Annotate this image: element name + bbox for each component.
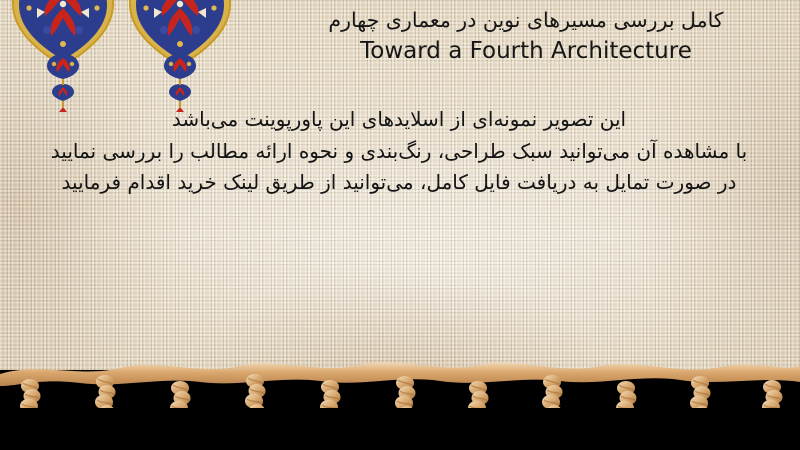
slide-title-english: Toward a Fourth Architecture	[266, 37, 786, 67]
body-line-3: در صورت تمایل به دریافت فایل کامل، می‌تو…	[8, 167, 790, 199]
slide-title-block: کامل بررسی مسیرهای نوین در معماری چهارم …	[266, 6, 786, 67]
presentation-slide: کامل بررسی مسیرهای نوین در معماری چهارم …	[0, 0, 800, 450]
body-line-2: با مشاهده آن می‌توانید سبک طراحی، رنگ‌بن…	[8, 136, 790, 168]
body-line-1: این تصویر نمونه‌ای از اسلایدهای این پاور…	[8, 104, 790, 136]
slide-title-persian: کامل بررسی مسیرهای نوین در معماری چهارم	[266, 6, 786, 36]
slide-body-block: این تصویر نمونه‌ای از اسلایدهای این پاور…	[8, 104, 790, 199]
black-base-band	[0, 408, 800, 450]
